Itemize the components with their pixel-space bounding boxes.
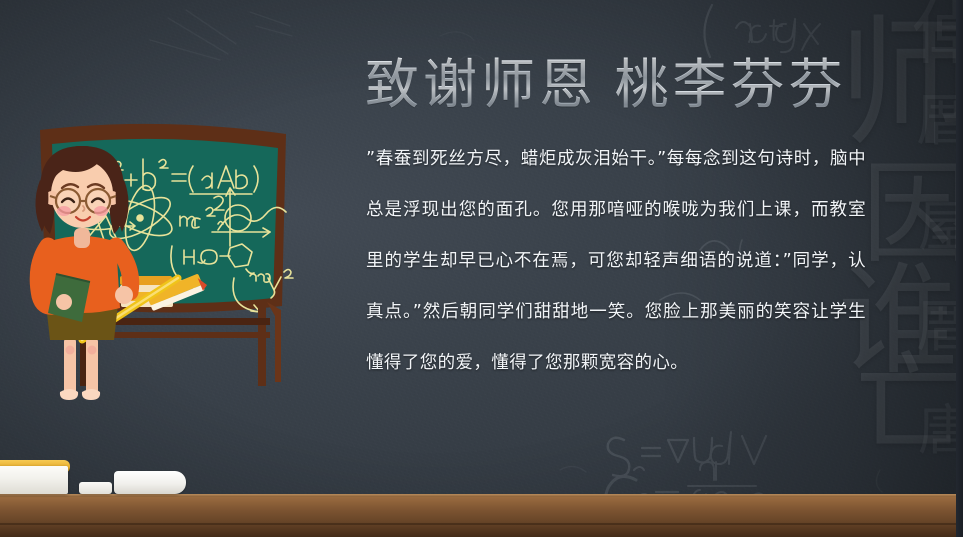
page-title: 致谢师恩 桃李芬芬	[365, 40, 847, 119]
board-brace	[267, 302, 281, 382]
hand-right	[115, 286, 133, 304]
cheek-right	[94, 206, 108, 216]
cheek-left	[57, 206, 71, 216]
body-paragraph: ”春蚕到死丝方尽，蜡炬成灰泪始干。”每每念到这句诗时，脑中总是浮现出您的面孔。您…	[366, 134, 866, 389]
presentation-slide: 师 因 谁 亡 倬 厝 屋 厝 唐	[0, 0, 963, 537]
ledge-groove	[0, 523, 963, 525]
chalk-piece-small	[79, 482, 112, 494]
foot-right	[82, 389, 100, 400]
wooden-ledge	[0, 497, 963, 537]
leg-left	[64, 336, 76, 398]
board-leg-right	[258, 304, 266, 386]
leg-right	[86, 336, 98, 398]
right-edge-strip	[956, 0, 963, 537]
chalk-piece-large	[114, 471, 186, 494]
teacher-illustration	[22, 118, 322, 408]
neck	[74, 228, 90, 248]
foot-left	[60, 389, 78, 400]
eraser	[0, 466, 68, 494]
teacher-blackboard-graphic	[22, 118, 322, 408]
